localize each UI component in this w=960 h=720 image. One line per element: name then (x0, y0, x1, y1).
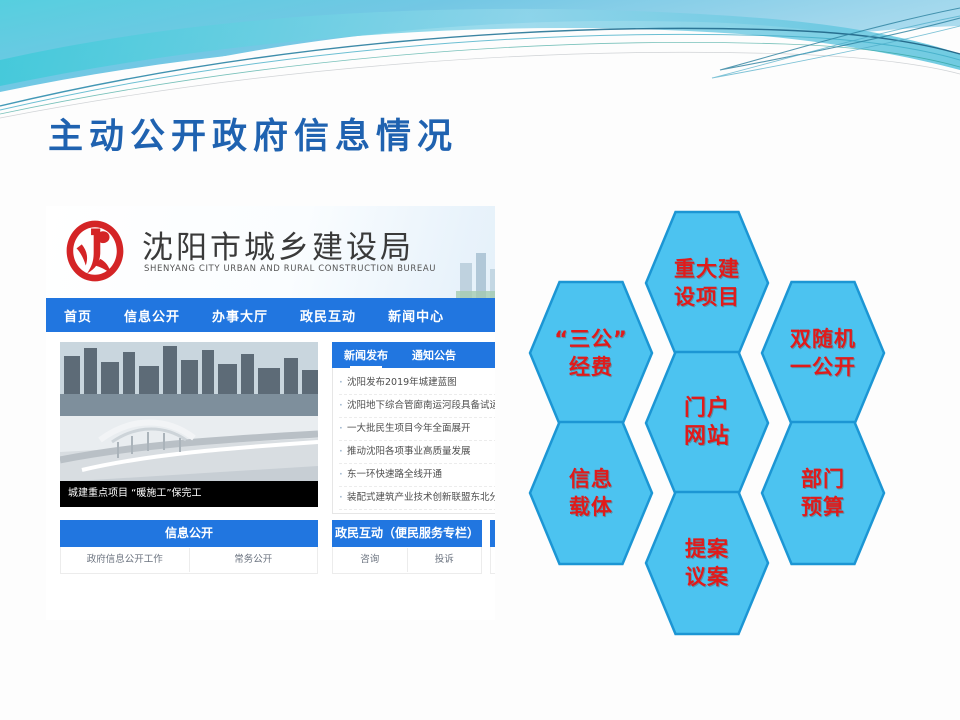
site-body: 城建重点项目 “暖施工”保完工 新闻发布 通知公告 沈阳发布2019年城建蓝图 … (46, 332, 495, 510)
site-navbar: 首页 信息公开 办事大厅 政民互动 新闻中心 (46, 298, 495, 332)
hexagon-diagram: “三公” 经费 重大建 设项目 双随机 一公开 (510, 198, 930, 582)
website-screenshot-image: 沈阳市城乡建设局 SHENYANG CITY URBAN AND RURAL C… (46, 206, 495, 620)
news-column: 新闻发布 通知公告 沈阳发布2019年城建蓝图 沈阳地下综合管廊南运河段具备试运… (332, 342, 495, 510)
hex-label-line: 议案 (685, 563, 729, 591)
hex-node-label: 双随机 一公开 (760, 280, 886, 426)
list-item[interactable]: 一大批民生项目今年全面展开 (339, 418, 495, 441)
nav-item-disclosure[interactable]: 信息公开 (124, 306, 180, 325)
hex-label-line: “三公” (554, 325, 628, 353)
nav-item-news-center[interactable]: 新闻中心 (388, 306, 444, 325)
hex-node-proposals-motions[interactable]: 提案 议案 (644, 490, 770, 636)
hex-label-line: 重大建 (674, 255, 740, 283)
section-subitem[interactable]: 投诉 (408, 548, 482, 572)
section-subitem[interactable]: 政府信息公开工作 (61, 548, 190, 572)
site-lower-sections: 信息公开 政府信息公开工作 常务公开 政民互动（便民服务专栏） 咨询 投诉 办事 (46, 520, 495, 574)
section-title[interactable]: 办事 (490, 520, 495, 547)
hex-node-label: 部门 预算 (760, 420, 886, 566)
hex-node-label: 门户 网站 (644, 350, 770, 496)
site-banner: 沈阳市城乡建设局 SHENYANG CITY URBAN AND RURAL C… (46, 206, 495, 298)
hex-label-line: 设项目 (674, 283, 740, 311)
list-item[interactable]: 沈阳发布2019年城建蓝图 (339, 372, 495, 395)
hex-node-portal-website[interactable]: 门户 网站 (644, 350, 770, 496)
hex-label-line: 提案 (685, 535, 729, 563)
section-title[interactable]: 政民互动（便民服务专栏） (332, 520, 482, 547)
section-title[interactable]: 信息公开 (60, 520, 318, 547)
list-item[interactable]: 沈阳地下综合管廊南运河段具备试运... (339, 395, 495, 418)
hex-label-line: 网站 (684, 423, 730, 451)
hex-node-information-carrier[interactable]: 信息 载体 (528, 420, 654, 566)
hex-node-label: “三公” 经费 (528, 280, 654, 426)
section-service-guide: 办事 指南 (490, 520, 495, 574)
hex-label-line: 预算 (801, 493, 845, 521)
section-subitem[interactable]: 常务公开 (190, 548, 318, 572)
list-item[interactable]: 装配式建筑产业技术创新联盟东北分... (339, 487, 495, 510)
header-decoration (0, 0, 960, 120)
news-tab-announcements[interactable]: 通知公告 (412, 347, 456, 363)
nav-item-interaction[interactable]: 政民互动 (300, 306, 356, 325)
news-tab-releases[interactable]: 新闻发布 (344, 347, 388, 363)
hex-node-label: 重大建 设项目 (644, 210, 770, 356)
header-swoosh-graphic (0, 0, 960, 120)
hex-node-label: 信息 载体 (528, 420, 654, 566)
hex-label-line: 载体 (569, 493, 613, 521)
shenyang-construction-bureau-logo-icon (62, 218, 128, 284)
news-list: 沈阳发布2019年城建蓝图 沈阳地下综合管廊南运河段具备试运... 一大批民生项… (332, 368, 495, 514)
hex-label-line: 一公开 (790, 353, 856, 381)
hero-photo[interactable]: 城建重点项目 “暖施工”保完工 (60, 342, 318, 507)
section-citizen-interaction: 政民互动（便民服务专栏） 咨询 投诉 (332, 520, 482, 574)
section-subitems: 政府信息公开工作 常务公开 (60, 547, 318, 574)
section-subitem[interactable]: 咨询 (333, 548, 408, 572)
list-item[interactable]: 推动沈阳各项事业高质量发展 (339, 441, 495, 464)
hex-label-line: 信息 (569, 465, 613, 493)
page-title: 主动公开政府信息情况 (48, 116, 458, 158)
section-subitems: 咨询 投诉 (332, 547, 482, 574)
website-screenshot-content: 沈阳市城乡建设局 SHENYANG CITY URBAN AND RURAL C… (46, 206, 495, 620)
section-subitems: 指南 (490, 547, 495, 574)
hex-node-label: 提案 议案 (644, 490, 770, 636)
nav-item-home[interactable]: 首页 (64, 306, 92, 325)
site-name: 沈阳市城乡建设局 (142, 222, 414, 267)
hex-node-major-construction-projects[interactable]: 重大建 设项目 (644, 210, 770, 356)
hex-node-three-public-funds[interactable]: “三公” 经费 (528, 280, 654, 426)
hex-label-line: 门户 (684, 395, 730, 423)
hex-label-line: 经费 (569, 353, 613, 381)
section-subitem[interactable]: 指南 (491, 548, 495, 572)
hex-label-line: 部门 (801, 465, 845, 493)
hero-caption: 城建重点项目 “暖施工”保完工 (60, 481, 318, 507)
nav-item-service-hall[interactable]: 办事大厅 (212, 306, 268, 325)
hex-node-double-random-one-disclosure[interactable]: 双随机 一公开 (760, 280, 886, 426)
banner-skyline-icon (456, 243, 495, 298)
slide-canvas: 主动公开政府信息情况 (0, 0, 960, 720)
hex-label-line: 双随机 (790, 325, 856, 353)
hex-node-department-budget[interactable]: 部门 预算 (760, 420, 886, 566)
section-information-disclosure: 信息公开 政府信息公开工作 常务公开 (60, 520, 318, 574)
list-item[interactable]: 东一环快速路全线开通 (339, 464, 495, 487)
news-tabs: 新闻发布 通知公告 (332, 342, 495, 368)
site-name-english: SHENYANG CITY URBAN AND RURAL CONSTRUCTI… (144, 264, 436, 274)
